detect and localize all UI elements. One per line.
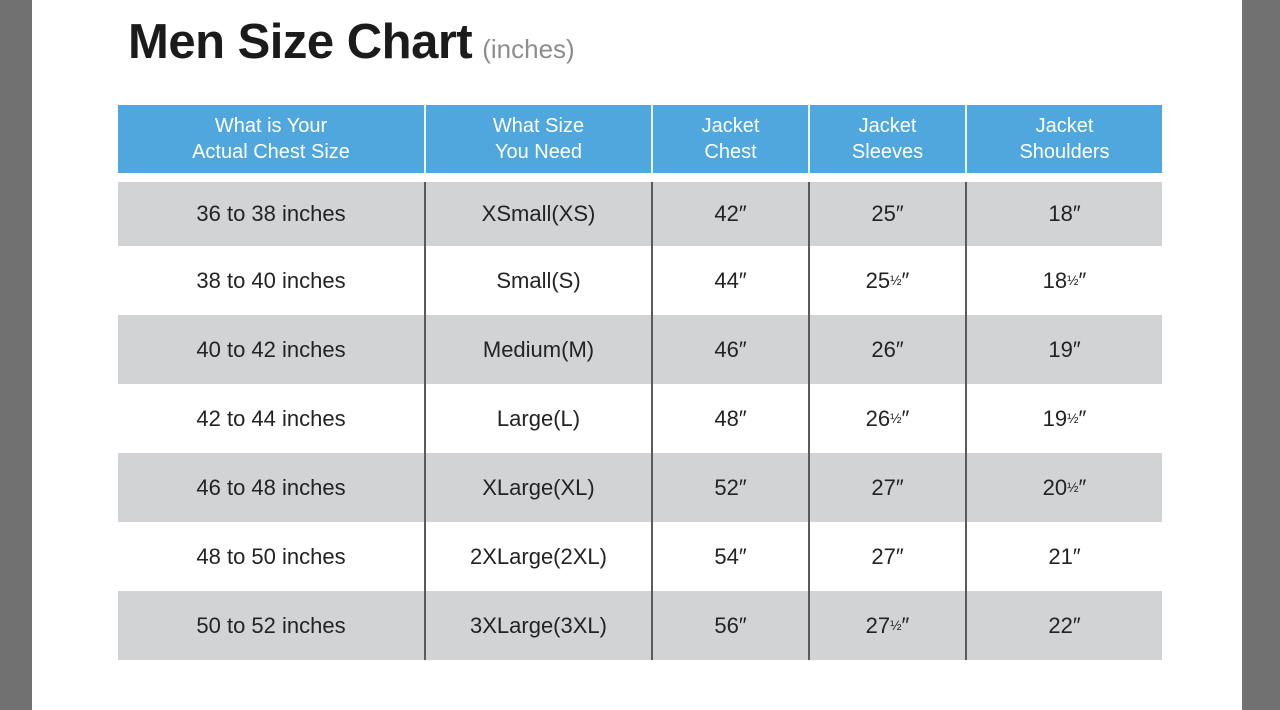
cell-jacket-chest: 54″ (652, 522, 809, 591)
column-header-line1: Jacket (973, 113, 1156, 139)
table-body: 36 to 38 inchesXSmall(XS)42″25″18″38 to … (118, 177, 1162, 660)
cell-jacket-sleeves: 27″ (809, 522, 966, 591)
cell-size-needed: Small(S) (425, 246, 652, 315)
table-row: 42 to 44 inchesLarge(L)48″26½″19½″ (118, 384, 1162, 453)
cell-jacket-chest: 52″ (652, 453, 809, 522)
cell-size-needed: 3XLarge(3XL) (425, 591, 652, 660)
cell-actual-chest: 48 to 50 inches (118, 522, 425, 591)
cell-actual-chest: 38 to 40 inches (118, 246, 425, 315)
column-header-jacket-chest: Jacket Chest (652, 105, 809, 177)
column-header-line2: Shoulders (973, 139, 1156, 165)
table-row: 40 to 42 inchesMedium(M)46″26″19″ (118, 315, 1162, 384)
cell-jacket-shoulders: 22″ (966, 591, 1162, 660)
cell-jacket-chest: 42″ (652, 177, 809, 246)
column-header-jacket-shoulders: Jacket Shoulders (966, 105, 1162, 177)
cell-jacket-shoulders: 19½″ (966, 384, 1162, 453)
size-chart-table: What is Your Actual Chest Size What Size… (118, 105, 1162, 660)
cell-actual-chest: 42 to 44 inches (118, 384, 425, 453)
column-header-line2: You Need (432, 139, 645, 165)
column-header-line1: Jacket (816, 113, 959, 139)
page-title: Men Size Chart (inches) (128, 18, 575, 67)
cell-jacket-sleeves: 27½″ (809, 591, 966, 660)
cell-actual-chest: 40 to 42 inches (118, 315, 425, 384)
cell-jacket-shoulders: 18½″ (966, 246, 1162, 315)
cell-jacket-shoulders: 21″ (966, 522, 1162, 591)
cell-size-needed: Medium(M) (425, 315, 652, 384)
size-chart-page: Men Size Chart (inches) What is Your Act… (32, 0, 1242, 710)
cell-size-needed: Large(L) (425, 384, 652, 453)
table-row: 48 to 50 inches2XLarge(2XL)54″27″21″ (118, 522, 1162, 591)
cell-jacket-shoulders: 20½″ (966, 453, 1162, 522)
cell-actual-chest: 36 to 38 inches (118, 177, 425, 246)
cell-jacket-shoulders: 19″ (966, 315, 1162, 384)
left-edge-band (0, 0, 32, 710)
page-title-unit: (inches) (482, 36, 574, 62)
table-row: 46 to 48 inchesXLarge(XL)52″27″20½″ (118, 453, 1162, 522)
column-header-size-needed: What Size You Need (425, 105, 652, 177)
column-header-line2: Chest (659, 139, 802, 165)
column-header-line2: Actual Chest Size (124, 139, 418, 165)
table-row: 36 to 38 inchesXSmall(XS)42″25″18″ (118, 177, 1162, 246)
column-header-line2: Sleeves (816, 139, 959, 165)
page-title-main: Men Size Chart (128, 18, 472, 67)
table-header: What is Your Actual Chest Size What Size… (118, 105, 1162, 177)
column-header-actual-chest: What is Your Actual Chest Size (118, 105, 425, 177)
cell-size-needed: XSmall(XS) (425, 177, 652, 246)
cell-jacket-sleeves: 25½″ (809, 246, 966, 315)
cell-size-needed: XLarge(XL) (425, 453, 652, 522)
table-row: 50 to 52 inches3XLarge(3XL)56″27½″22″ (118, 591, 1162, 660)
table-row: 38 to 40 inchesSmall(S)44″25½″18½″ (118, 246, 1162, 315)
cell-actual-chest: 50 to 52 inches (118, 591, 425, 660)
table-header-row: What is Your Actual Chest Size What Size… (118, 105, 1162, 177)
column-header-line1: Jacket (659, 113, 802, 139)
cell-jacket-shoulders: 18″ (966, 177, 1162, 246)
column-header-line1: What Size (432, 113, 645, 139)
cell-jacket-chest: 48″ (652, 384, 809, 453)
cell-jacket-chest: 56″ (652, 591, 809, 660)
cell-actual-chest: 46 to 48 inches (118, 453, 425, 522)
cell-jacket-sleeves: 26″ (809, 315, 966, 384)
cell-jacket-chest: 46″ (652, 315, 809, 384)
cell-jacket-sleeves: 25″ (809, 177, 966, 246)
cell-jacket-sleeves: 27″ (809, 453, 966, 522)
column-header-line1: What is Your (124, 113, 418, 139)
right-edge-band (1242, 0, 1280, 710)
cell-size-needed: 2XLarge(2XL) (425, 522, 652, 591)
cell-jacket-sleeves: 26½″ (809, 384, 966, 453)
cell-jacket-chest: 44″ (652, 246, 809, 315)
column-header-jacket-sleeves: Jacket Sleeves (809, 105, 966, 177)
